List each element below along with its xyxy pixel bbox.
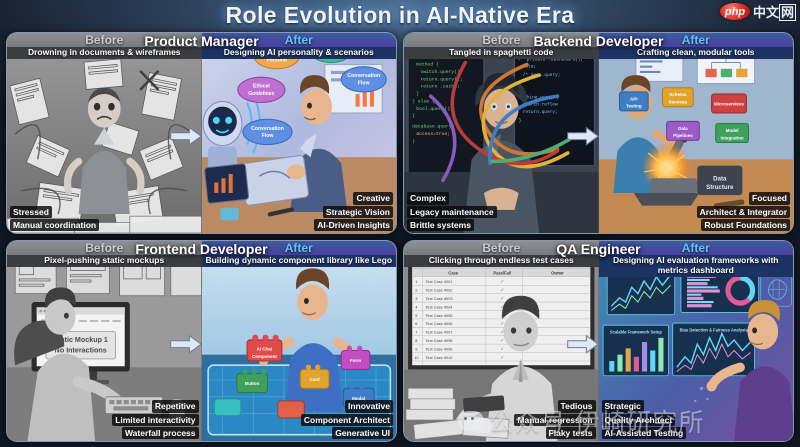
fe-before-captions: Repetitive Limited interactivity Waterfa… <box>112 400 198 439</box>
before-label: Before <box>85 33 123 47</box>
caption: Strategic Vision <box>323 206 393 218</box>
svg-text:method {: method { <box>416 62 439 68</box>
before-label: Before <box>482 33 520 47</box>
svg-text:✓: ✓ <box>500 346 504 352</box>
svg-text:Pass/Fail: Pass/Fail <box>493 271 511 276</box>
transition-arrow-icon <box>566 334 600 356</box>
before-label: Before <box>482 241 520 255</box>
site-watermark: php 中文网 <box>720 2 796 21</box>
infographic-canvas: Role Evolution in AI-Native Era php 中文网 <box>0 0 800 447</box>
caption: Strategic <box>602 400 644 412</box>
transition-arrow-icon <box>169 126 203 148</box>
after-label: After <box>285 241 313 255</box>
fe-after-half: AI ChatComponent Button Card Form <box>202 241 397 441</box>
svg-text:✓: ✓ <box>500 321 504 327</box>
fe-before-header: Before <box>7 241 202 255</box>
svg-text:Data: Data <box>678 126 688 131</box>
qa-before-subtitle: Clicking through endless test cases <box>404 255 599 267</box>
caption: Focused <box>749 192 790 204</box>
pm-before-subtitle: Drowning in documents & wireframes <box>7 47 202 59</box>
php-logo-icon: php <box>720 3 750 20</box>
svg-text:}: } <box>412 113 415 119</box>
svg-text:Test Case #001: Test Case #001 <box>425 279 452 284</box>
svg-text:database.query(: database.query( <box>412 124 454 130</box>
svg-text:} else {: } else { <box>412 98 435 104</box>
svg-text:Schema: Schema <box>669 92 687 97</box>
svg-text:Button: Button <box>244 381 259 386</box>
fe-after-header: After <box>202 241 397 255</box>
svg-text:Guidelines: Guidelines <box>248 91 274 97</box>
svg-text:✓: ✓ <box>500 338 504 344</box>
fe-before-subtitle: Pixel-pushing static mockups <box>7 255 202 267</box>
caption: Legacy maintenance <box>407 206 497 218</box>
svg-text:Test Case #008: Test Case #008 <box>425 338 453 343</box>
svg-text:7: 7 <box>415 330 417 335</box>
be-after-header: After <box>599 33 794 47</box>
caption: Flaky tests <box>546 427 596 439</box>
caption: Innovative <box>345 400 393 412</box>
svg-text:Test Case #006: Test Case #006 <box>425 321 453 326</box>
caption: Manual regression <box>514 414 595 426</box>
caption: Architect & Integrator <box>697 206 790 218</box>
caption: AI-Driven Insights <box>314 219 393 231</box>
be-after-half: Data Structure APITesting SchemaServices… <box>599 33 794 233</box>
svg-text:Conversation: Conversation <box>251 126 284 132</box>
svg-text:return.query;: return.query; <box>523 109 558 115</box>
svg-text:Test Case #003: Test Case #003 <box>425 296 453 301</box>
svg-text:Card: Card <box>309 377 319 382</box>
svg-text:Services: Services <box>668 99 687 104</box>
caption: Generative UI <box>332 427 393 439</box>
svg-text:Form: Form <box>349 358 360 363</box>
svg-text:Integration: Integration <box>720 135 743 140</box>
svg-text:Flow: Flow <box>357 81 370 87</box>
svg-text:): ) <box>412 138 415 144</box>
watermark-cn-a: 中文 <box>753 5 779 20</box>
svg-text:2: 2 <box>415 287 417 292</box>
caption: Component Architect <box>301 414 393 426</box>
watermark-cn-text: 中文网 <box>753 2 796 21</box>
panel-qa-engineer[interactable]: File Edit View Insert Format Tools CaseP… <box>403 240 794 442</box>
svg-text:Testing: Testing <box>625 104 641 109</box>
svg-text:Owner: Owner <box>551 271 564 276</box>
svg-text:}: } <box>416 91 419 97</box>
svg-text:✓: ✓ <box>500 355 504 361</box>
caption: Stressed <box>10 206 52 218</box>
caption: Limited interactivity <box>112 414 198 426</box>
svg-text:✓: ✓ <box>500 296 504 302</box>
panel-grid: Before Drowning in documents & wireframe… <box>6 32 794 442</box>
svg-text:}: } <box>519 117 522 123</box>
caption: Repetitive <box>152 400 199 412</box>
be-before-subtitle: Tangled in spaghetti code <box>404 47 599 59</box>
qa-after-half: Model Performance Metrics Evaluation Fra… <box>599 241 794 441</box>
after-label: After <box>682 33 710 47</box>
svg-text:Test Case #002: Test Case #002 <box>425 287 452 292</box>
svg-text:Structure: Structure <box>706 184 734 191</box>
svg-text:Test Case #005: Test Case #005 <box>425 313 453 318</box>
svg-text:Ethical: Ethical <box>252 84 269 90</box>
fe-after-captions: Innovative Component Architect Generativ… <box>301 400 393 439</box>
svg-text:Test Case #009: Test Case #009 <box>425 346 452 351</box>
svg-text:Flow: Flow <box>261 133 274 139</box>
fe-after-subtitle: Building dynamic component library like … <box>202 255 397 267</box>
panel-product-manager[interactable]: Before Drowning in documents & wireframe… <box>6 32 397 234</box>
svg-text:Test Case #007: Test Case #007 <box>425 330 452 335</box>
be-before-captions: Complex Legacy maintenance Brittle syste… <box>407 192 497 231</box>
caption: Tedious <box>558 400 596 412</box>
svg-text:1: 1 <box>415 279 417 284</box>
svg-text:API: API <box>630 96 637 101</box>
pm-before-captions: Stressed Manual coordination <box>10 206 99 231</box>
svg-text:✓: ✓ <box>500 287 504 293</box>
svg-text:9: 9 <box>415 346 417 351</box>
svg-text:Component: Component <box>251 354 276 359</box>
svg-text:Data: Data <box>713 175 727 182</box>
caption: Creative <box>353 192 393 204</box>
qa-after-subtitle: Designing AI evaluation frameworks with … <box>599 255 794 277</box>
caption: Robust Foundations <box>701 219 790 231</box>
caption: AI-Assisted Testing <box>602 427 687 439</box>
caption: Complex <box>407 192 449 204</box>
svg-text:Case: Case <box>448 271 458 276</box>
svg-text:Bias Detection & Fairness Anal: Bias Detection & Fairness Analysis <box>679 327 748 332</box>
svg-text:Microservices: Microservices <box>714 102 744 107</box>
qa-after-header: After <box>599 241 794 255</box>
pm-after-half: DefinePersona CreateScenarios Conversati… <box>202 33 397 233</box>
svg-text:Test Case #004: Test Case #004 <box>425 304 453 309</box>
svg-text:Scalable Framework Setup: Scalable Framework Setup <box>609 330 661 335</box>
caption: Manual coordination <box>10 219 99 231</box>
svg-text:access=true;: access=true; <box>416 131 450 137</box>
transition-arrow-icon <box>566 126 600 148</box>
svg-text:✓: ✓ <box>500 279 504 285</box>
caption: Quality Architect <box>602 414 676 426</box>
qa-before-header: Before <box>404 241 599 255</box>
qa-before-captions: Tedious Manual regression Flaky tests <box>514 400 595 439</box>
page-title: Role Evolution in AI-Native Era <box>226 2 575 29</box>
svg-text:Pipelines: Pipelines <box>673 133 693 138</box>
be-after-subtitle: Crafting clean, modular tools <box>599 47 794 59</box>
svg-text:Conversation: Conversation <box>347 73 380 79</box>
svg-text:Test Case #010: Test Case #010 <box>425 355 453 360</box>
qa-after-captions: Strategic Quality Architect AI-Assisted … <box>602 400 687 439</box>
before-label: Before <box>85 241 123 255</box>
watermark-cn-b: 网 <box>779 4 796 21</box>
pm-before-header: Before <box>7 33 202 47</box>
caption: Brittle systems <box>407 219 474 231</box>
pm-after-captions: Creative Strategic Vision AI-Driven Insi… <box>314 192 393 231</box>
panel-backend-developer[interactable]: if else {method { switch.query();return.… <box>403 32 794 234</box>
svg-text:Model: Model <box>725 128 738 133</box>
pm-after-header: After <box>202 33 397 47</box>
after-label: After <box>285 33 313 47</box>
be-before-header: Before <box>404 33 599 47</box>
title-bar: Role Evolution in AI-Native Era <box>0 0 800 30</box>
svg-text:AI Chat: AI Chat <box>256 346 272 351</box>
after-label: After <box>682 241 710 255</box>
transition-arrow-icon <box>169 334 203 356</box>
be-after-captions: Focused Architect & Integrator Robust Fo… <box>697 192 790 231</box>
panel-frontend-developer[interactable]: Static Mockup 1 No Interactions <box>6 240 397 442</box>
pm-after-subtitle: Designing AI personality & scenarios <box>202 47 397 59</box>
caption: Waterfall process <box>122 427 199 439</box>
svg-text:switch.query();: switch.query(); <box>420 69 462 75</box>
